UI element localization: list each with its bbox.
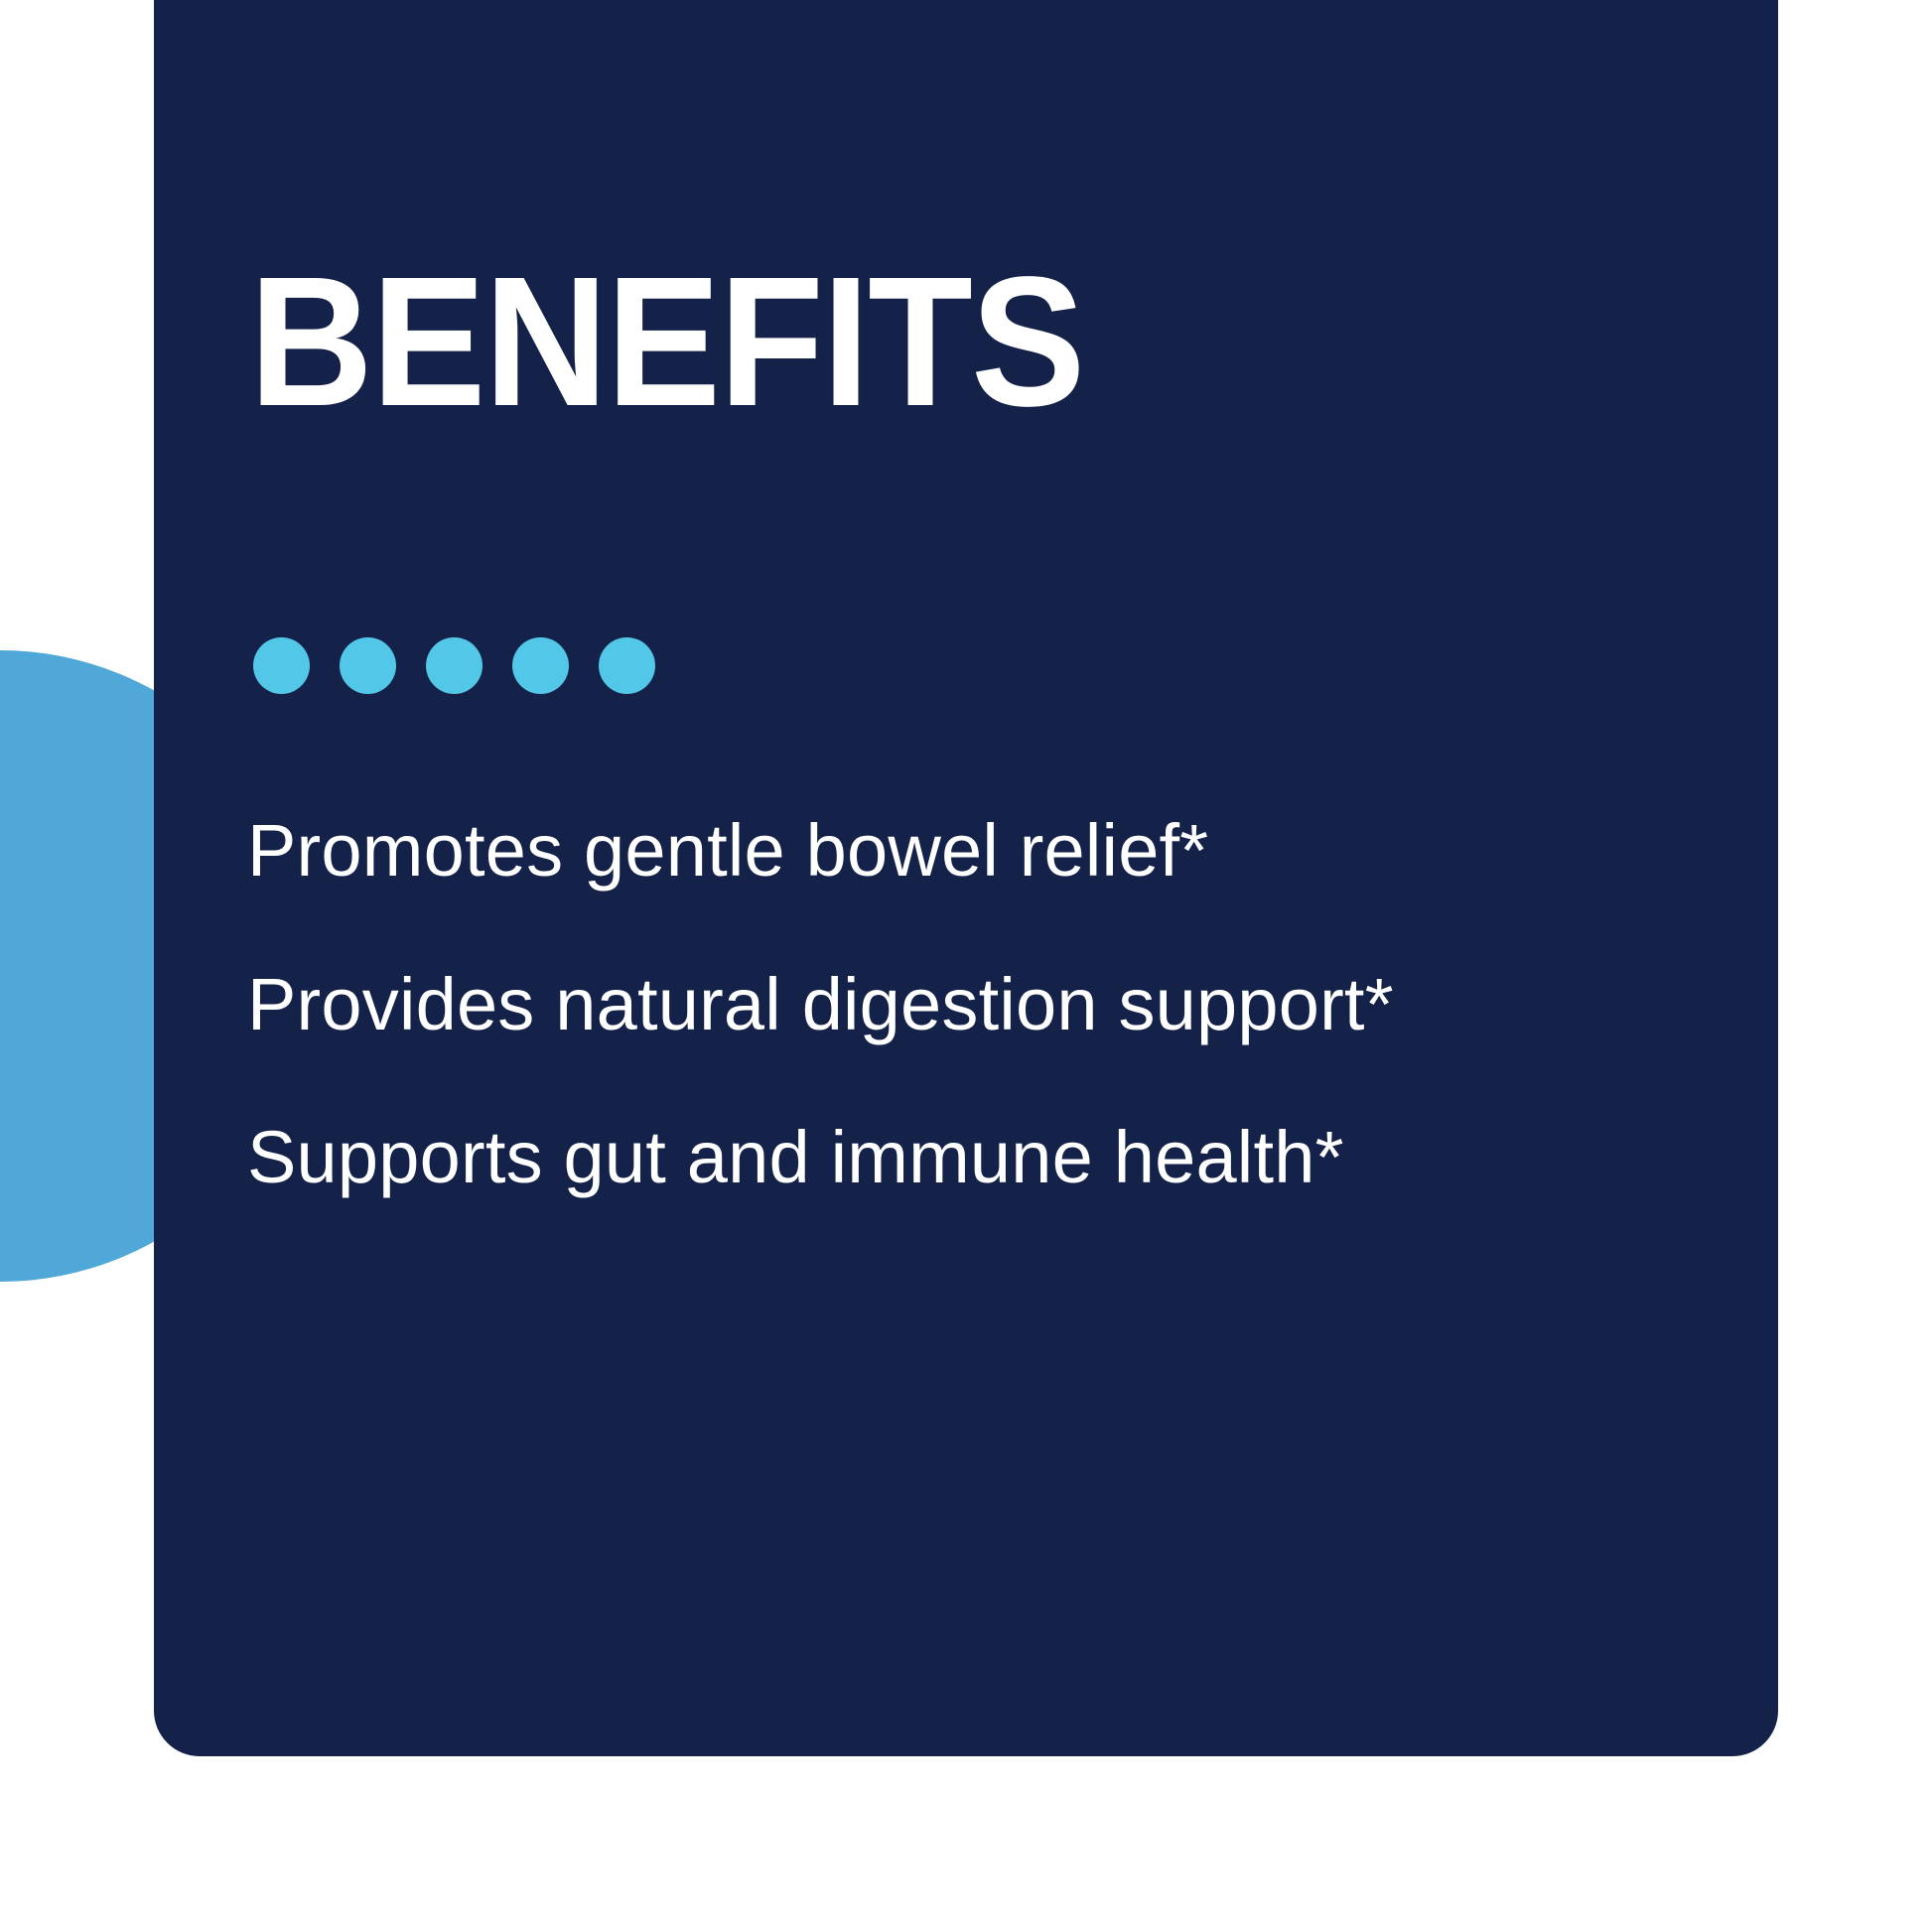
card-content: BENEFITS Promotes gentle bowel relief* P…	[154, 0, 1778, 1756]
divider-dot-2	[340, 637, 396, 694]
benefits-card: BENEFITS Promotes gentle bowel relief* P…	[154, 0, 1778, 1756]
divider-dot-3	[426, 637, 483, 694]
list-item: Supports gut and immune health*	[247, 1111, 1548, 1205]
divider-dot-5	[599, 637, 655, 694]
benefits-graphic: BENEFITS Promotes gentle bowel relief* P…	[0, 0, 1932, 1932]
benefits-list: Promotes gentle bowel relief* Provides n…	[247, 804, 1657, 1205]
list-item: Provides natural digestion support*	[247, 958, 1548, 1052]
divider-dot-1	[253, 637, 310, 694]
divider-dot-4	[512, 637, 569, 694]
page-title: BENEFITS	[249, 250, 1083, 435]
list-item: Promotes gentle bowel relief*	[247, 804, 1548, 898]
dot-divider	[253, 637, 655, 694]
